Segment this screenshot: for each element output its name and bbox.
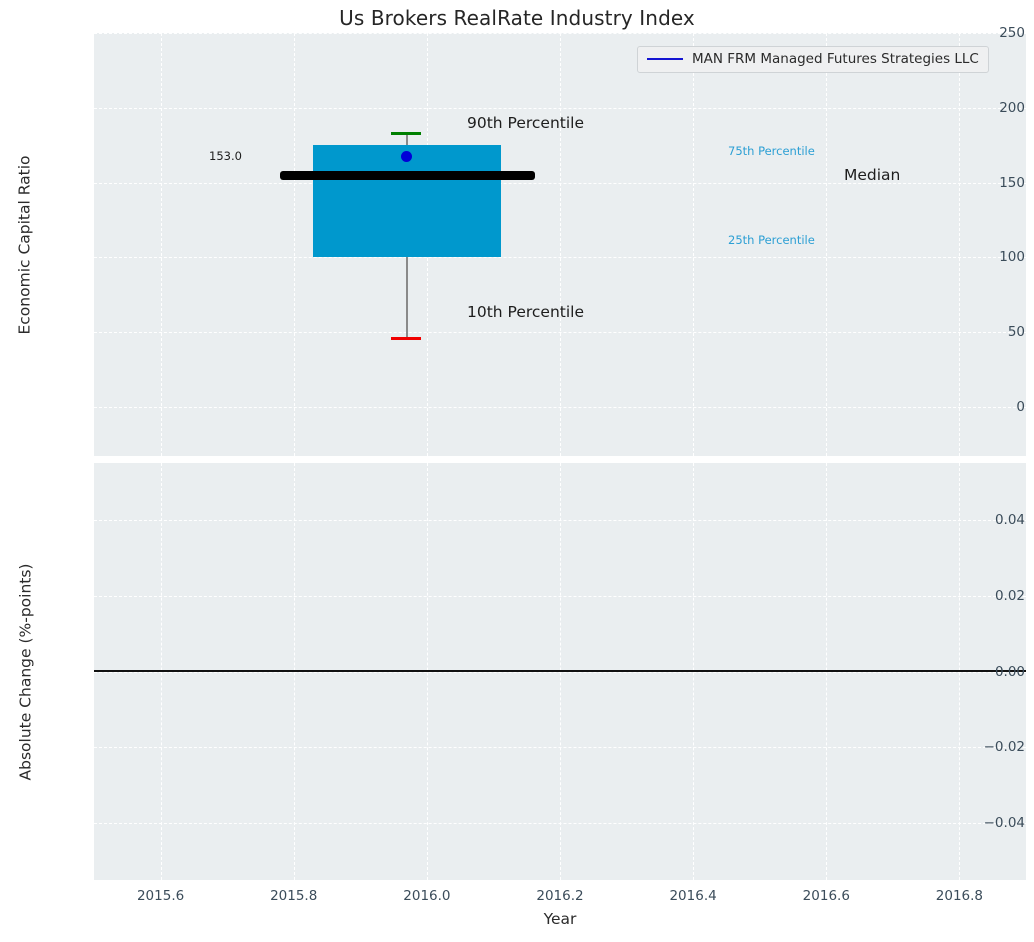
chart-title: Us Brokers RealRate Industry Index <box>0 6 1034 30</box>
cap-90th-percentile <box>391 132 422 135</box>
xtick-2015.6: 2015.6 <box>101 888 221 904</box>
gridline-x-2015.6 <box>161 463 162 880</box>
gridline-x-2016.8 <box>959 33 960 456</box>
gridline-x-2016.2 <box>560 463 561 880</box>
xtick-2016.2: 2016.2 <box>500 888 620 904</box>
annotation-75th-percentile: 75th Percentile <box>728 144 815 158</box>
ytick-top-200: 200 <box>956 100 1034 116</box>
xtick-2015.8: 2015.8 <box>234 888 354 904</box>
gridline-x-2016.2 <box>560 33 561 456</box>
y-axis-label-bottom: Absolute Change (%-points) <box>10 463 40 880</box>
ytick-top-50: 50 <box>956 324 1034 340</box>
ytick-top-100: 100 <box>956 249 1034 265</box>
gridline-x-2015.6 <box>161 33 162 456</box>
xtick-2016.6: 2016.6 <box>766 888 886 904</box>
cap-10th-percentile <box>391 337 422 340</box>
ytick-bottom--0.04: −0.04 <box>956 815 1034 831</box>
iqr-box <box>313 145 501 257</box>
ytick-bottom-0.02: 0.02 <box>956 588 1034 604</box>
xtick-2016.8: 2016.8 <box>899 888 1019 904</box>
legend-line-swatch <box>647 58 683 60</box>
plot-area-economic-capital-ratio: 153.0 90th Percentile 10th Percentile 75… <box>94 33 1026 456</box>
annotation-10th-percentile: 10th Percentile <box>467 303 584 321</box>
legend-item-label: MAN FRM Managed Futures Strategies LLC <box>692 51 979 67</box>
y-axis-label-top-text: Economic Capital Ratio <box>16 155 34 334</box>
chart-legend[interactable]: MAN FRM Managed Futures Strategies LLC <box>637 46 989 73</box>
annotation-median: Median <box>844 166 900 184</box>
ytick-top-0: 0 <box>956 399 1034 415</box>
xtick-2016.0: 2016.0 <box>367 888 487 904</box>
zero-reference-line <box>94 670 1026 672</box>
chart-figure: Us Brokers RealRate Industry Index 153.0 <box>0 0 1034 942</box>
ytick-bottom-0.04: 0.04 <box>956 512 1034 528</box>
y-axis-label-bottom-text: Absolute Change (%-points) <box>16 563 34 780</box>
gridline-x-2015.8 <box>294 463 295 880</box>
x-axis-label: Year <box>94 910 1026 928</box>
annotation-90th-percentile: 90th Percentile <box>467 114 584 132</box>
gridline-x-2015.8 <box>294 33 295 456</box>
xtick-2016.4: 2016.4 <box>633 888 753 904</box>
gridline-x-2016.6 <box>826 33 827 456</box>
gridline-x-2016.4 <box>693 33 694 456</box>
median-value-label: 153.0 <box>209 149 242 163</box>
y-axis-label-top: Economic Capital Ratio <box>10 33 40 456</box>
gridline-x-2016.4 <box>693 463 694 880</box>
ytick-top-250: 250 <box>956 25 1034 41</box>
median-line <box>280 171 535 181</box>
annotation-25th-percentile: 25th Percentile <box>728 233 815 247</box>
gridline-x-2016.0 <box>427 463 428 880</box>
gridline-x-2016.6 <box>826 463 827 880</box>
ytick-top-150: 150 <box>956 175 1034 191</box>
ytick-bottom--0.02: −0.02 <box>956 739 1034 755</box>
ytick-bottom-0.00: 0.00 <box>956 664 1034 680</box>
plot-area-absolute-change <box>94 463 1026 880</box>
